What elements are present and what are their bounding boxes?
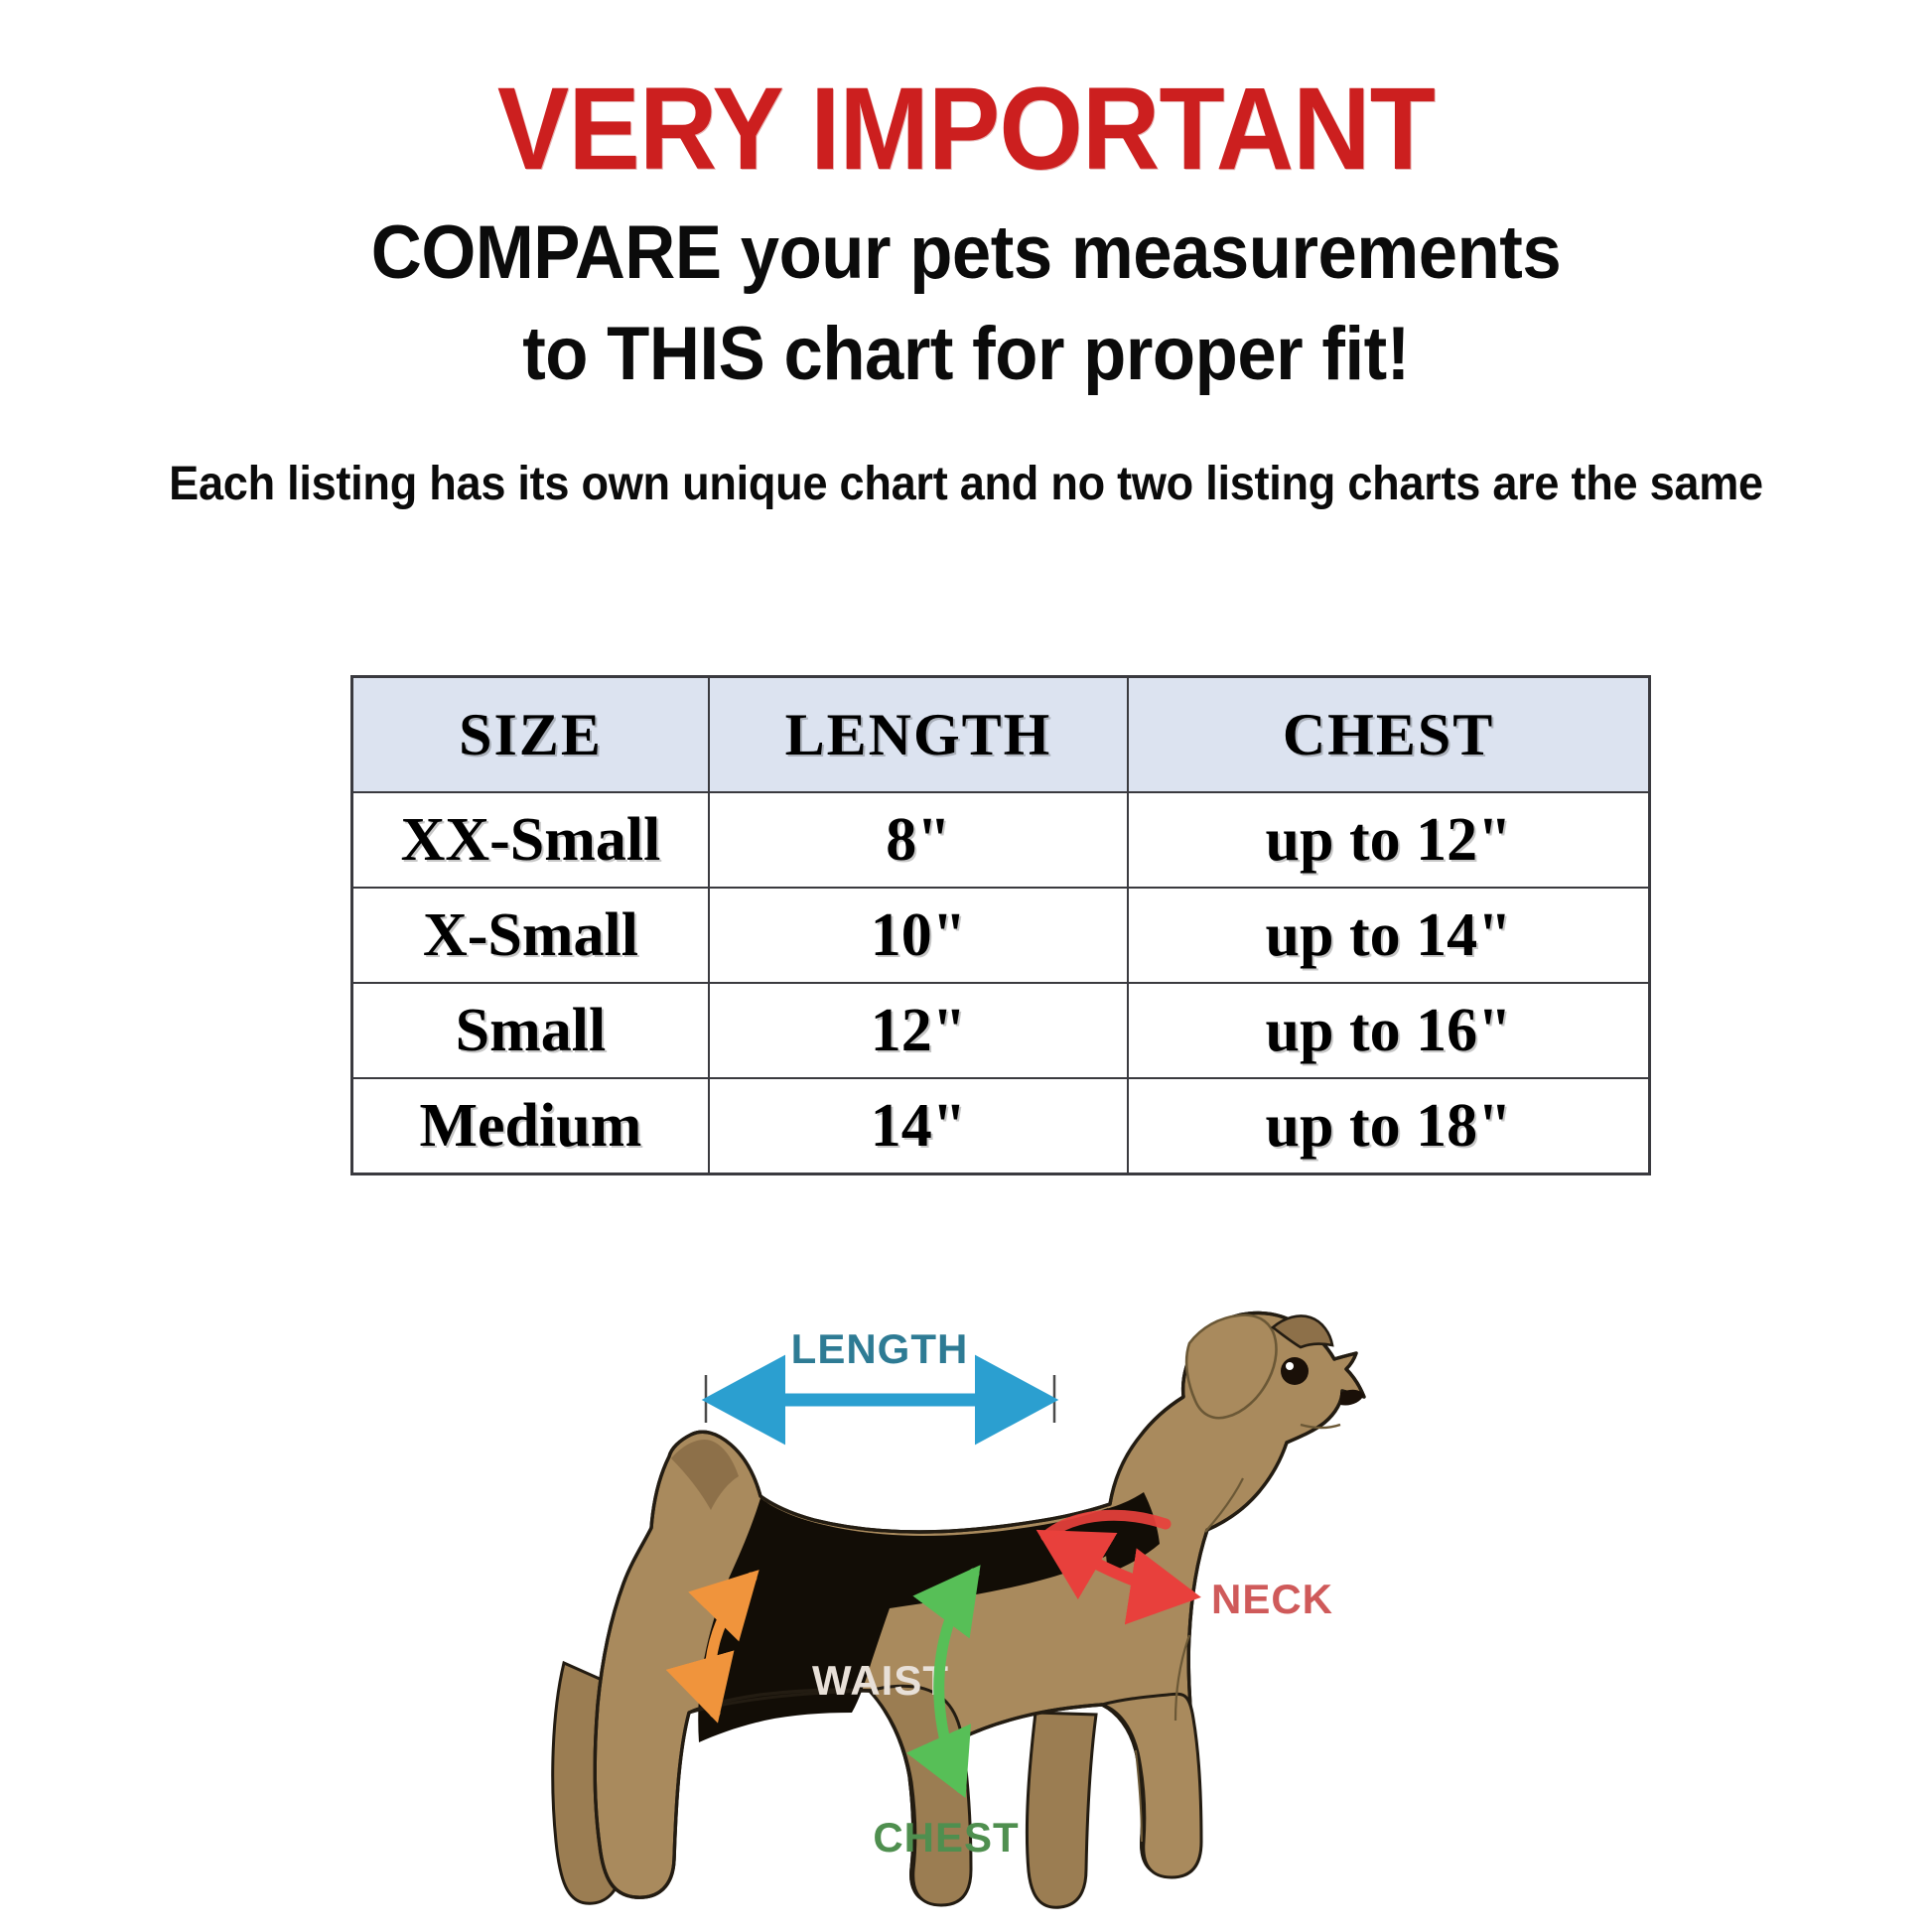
cell-chest: up to 12" bbox=[1128, 792, 1649, 888]
dog-rear-leg-near bbox=[870, 1686, 971, 1905]
length-label: LENGTH bbox=[791, 1325, 969, 1372]
table-row: X-Small 10" up to 14" bbox=[352, 888, 1650, 983]
dog-measurement-diagram: LENGTH WAIST CHEST NECK bbox=[494, 1246, 1438, 1931]
subtitle-line-1: COMPARE your pets measurements bbox=[68, 205, 1864, 301]
subtitle-line-2: to THIS chart for proper fit! bbox=[68, 306, 1864, 402]
cell-size: Medium bbox=[352, 1078, 709, 1174]
column-header-size: SIZE bbox=[352, 677, 709, 793]
waist-label: WAIST bbox=[812, 1657, 949, 1704]
cell-length: 14" bbox=[709, 1078, 1128, 1174]
dog-eye bbox=[1281, 1357, 1309, 1385]
header-block: VERY IMPORTANT COMPARE your pets measure… bbox=[0, 0, 1932, 512]
cell-length: 8" bbox=[709, 792, 1128, 888]
tagline: Each listing has its own unique chart an… bbox=[58, 456, 1873, 513]
dog-eye-highlight bbox=[1286, 1362, 1294, 1370]
cell-chest: up to 16" bbox=[1128, 983, 1649, 1078]
cell-chest: up to 18" bbox=[1128, 1078, 1649, 1174]
table-row: Small 12" up to 16" bbox=[352, 983, 1650, 1078]
cell-chest: up to 14" bbox=[1128, 888, 1649, 983]
table-header-row: SIZE LENGTH CHEST bbox=[352, 677, 1650, 793]
dog-front-leg-far bbox=[1027, 1713, 1096, 1907]
cell-length: 12" bbox=[709, 983, 1128, 1078]
column-header-chest: CHEST bbox=[1128, 677, 1649, 793]
chest-label: CHEST bbox=[873, 1814, 1019, 1861]
dog-front-leg-near bbox=[1102, 1694, 1201, 1877]
cell-size: Small bbox=[352, 983, 709, 1078]
cell-length: 10" bbox=[709, 888, 1128, 983]
neck-label: NECK bbox=[1211, 1576, 1333, 1622]
size-chart-table: SIZE LENGTH CHEST XX-Small 8" up to 12" … bbox=[350, 675, 1651, 1175]
dog-nose bbox=[1340, 1390, 1364, 1406]
page-title: VERY IMPORTANT bbox=[77, 69, 1855, 189]
cell-size: XX-Small bbox=[352, 792, 709, 888]
table-row: XX-Small 8" up to 12" bbox=[352, 792, 1650, 888]
column-header-length: LENGTH bbox=[709, 677, 1128, 793]
length-measure-group: LENGTH bbox=[706, 1325, 1054, 1423]
cell-size: X-Small bbox=[352, 888, 709, 983]
size-chart-container: SIZE LENGTH CHEST XX-Small 8" up to 12" … bbox=[350, 675, 1651, 1175]
table-row: Medium 14" up to 18" bbox=[352, 1078, 1650, 1174]
